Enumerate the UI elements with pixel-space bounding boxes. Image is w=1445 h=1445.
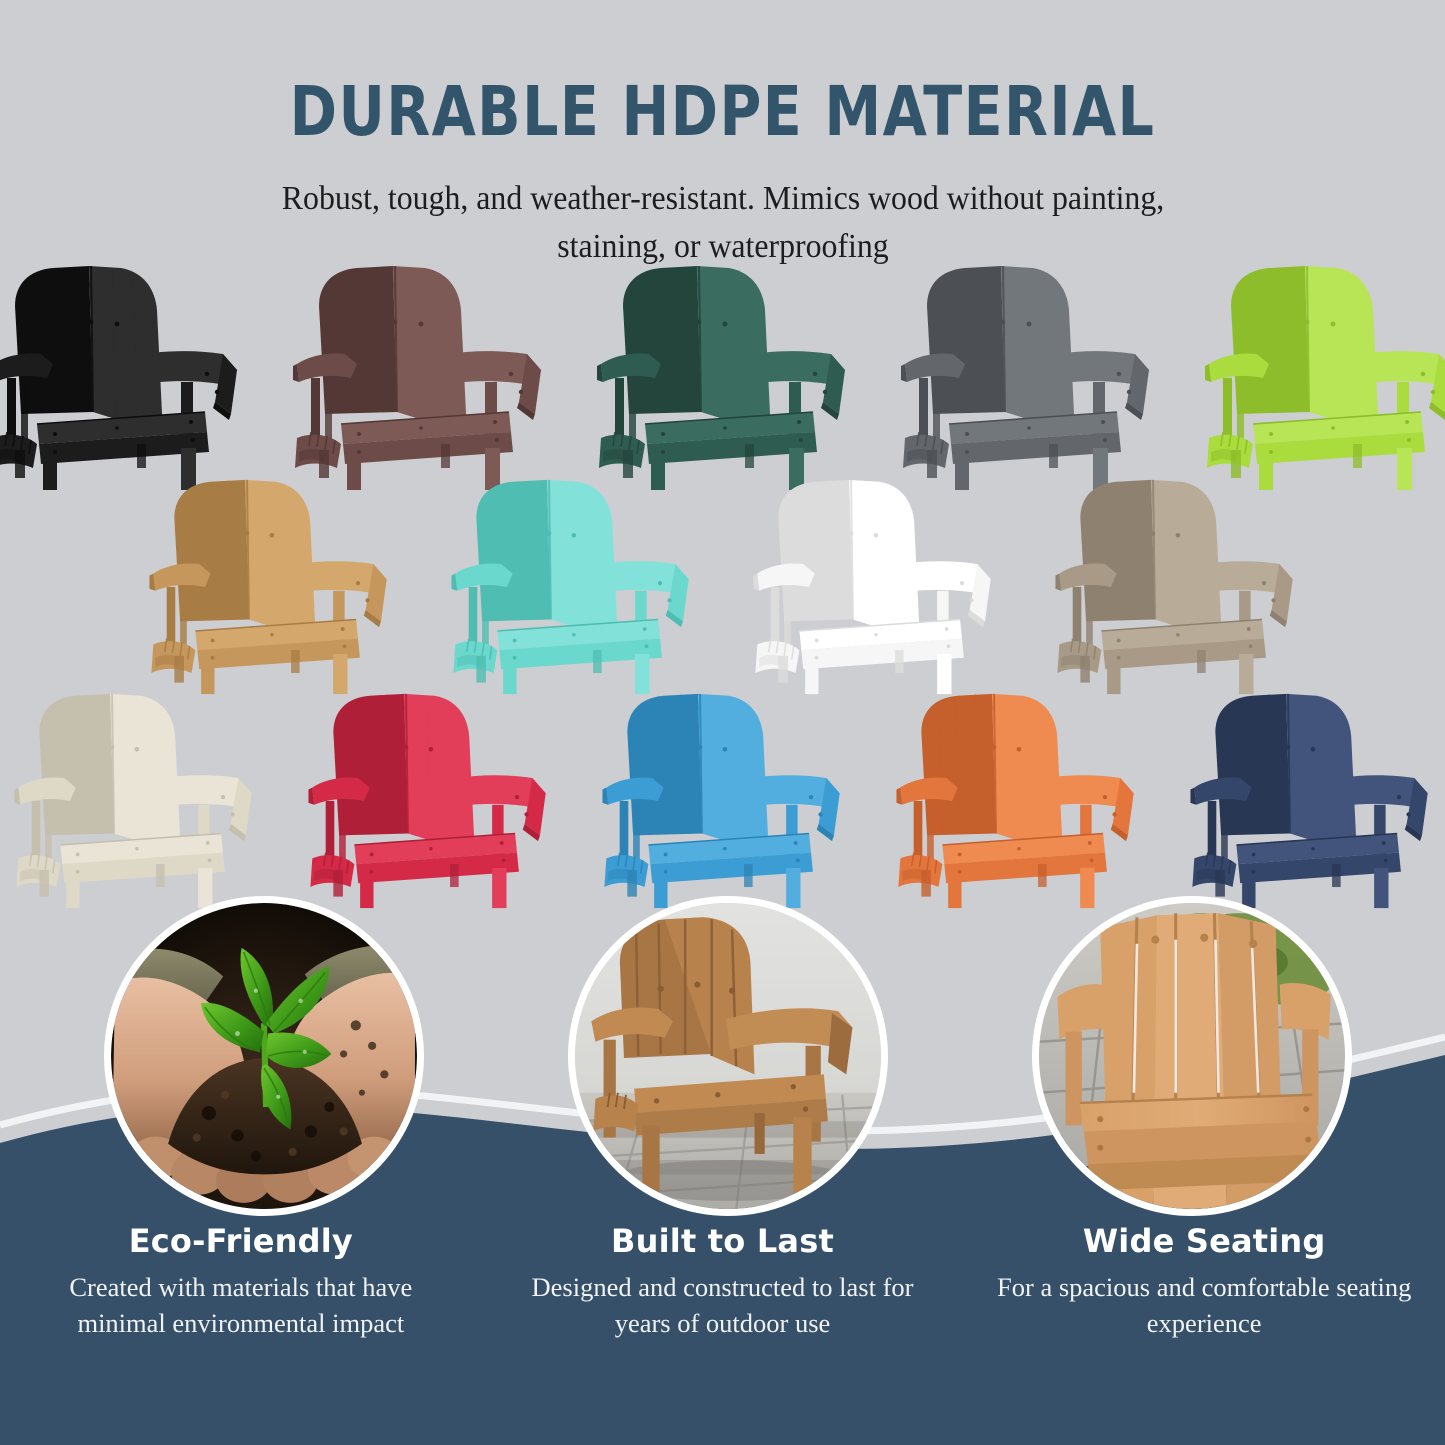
chair-row-2 — [0, 476, 1445, 696]
chair-swatch-navy[interactable] — [1186, 690, 1436, 910]
chair-swatch-gray[interactable] — [897, 262, 1157, 492]
adirondack-chair-light-blue — [598, 690, 848, 910]
adirondack-chair-black — [0, 262, 245, 492]
chair-swatch-teak[interactable] — [145, 476, 395, 696]
feature-eco-friendly: Eco-Friendly Created with materials that… — [0, 1222, 482, 1341]
feature-images — [0, 896, 1445, 1206]
feature-body: Created with materials that have minimal… — [26, 1270, 456, 1341]
adirondack-chair-teak — [145, 476, 395, 696]
adirondack-chair-aqua — [447, 476, 697, 696]
chair-swatch-white[interactable] — [749, 476, 999, 696]
chair-color-grid — [0, 262, 1445, 922]
adirondack-chair-orange — [892, 690, 1142, 910]
chair-swatch-weathered-wood[interactable] — [1051, 476, 1301, 696]
feature-image-wide-seating — [1032, 896, 1352, 1216]
adirondack-chair-white — [749, 476, 999, 696]
chair-swatch-brown[interactable] — [289, 262, 549, 492]
feature-title: Built to Last — [500, 1222, 946, 1260]
feature-built-to-last: Built to Last Designed and constructed t… — [482, 1222, 964, 1341]
infographic-canvas: DURABLE HDPE MATERIAL Robust, tough, and… — [0, 0, 1445, 1445]
adirondack-chair-gray — [897, 262, 1157, 492]
adirondack-chair-dark-green — [593, 262, 853, 492]
feature-body: For a spacious and comfortable seating e… — [989, 1270, 1419, 1341]
adirondack-chair-weathered-wood — [1051, 476, 1301, 696]
feature-body: Designed and constructed to last for yea… — [508, 1270, 938, 1341]
header: DURABLE HDPE MATERIAL Robust, tough, and… — [0, 0, 1445, 270]
chair-swatch-lime-green[interactable] — [1201, 262, 1445, 492]
adirondack-chair-navy — [1186, 690, 1436, 910]
chair-swatch-ivory[interactable] — [10, 690, 260, 910]
brown-adirondack-chair-on-patio-photo — [575, 903, 881, 1209]
page-title: DURABLE HDPE MATERIAL — [58, 0, 1387, 147]
adirondack-chair-brown — [289, 262, 549, 492]
feature-title: Eco-Friendly — [18, 1222, 464, 1260]
feature-wide-seating: Wide Seating For a spacious and comforta… — [963, 1222, 1445, 1341]
feature-image-built-to-last — [568, 896, 888, 1216]
page-subtitle: Robust, tough, and weather-resistant. Mi… — [243, 147, 1203, 270]
adirondack-chair-red — [304, 690, 554, 910]
feature-title: Wide Seating — [981, 1222, 1427, 1260]
chair-swatch-black[interactable] — [0, 262, 245, 492]
chair-swatch-dark-green[interactable] — [593, 262, 853, 492]
chair-swatch-light-blue[interactable] — [598, 690, 848, 910]
chair-row-1 — [0, 262, 1445, 492]
chair-swatch-aqua[interactable] — [447, 476, 697, 696]
adirondack-chair-lime-green — [1201, 262, 1445, 492]
feature-text-row: Eco-Friendly Created with materials that… — [0, 1222, 1445, 1341]
hands-holding-seedling-in-soil-photo — [111, 903, 417, 1209]
chair-row-3 — [0, 690, 1445, 910]
chair-swatch-orange[interactable] — [892, 690, 1142, 910]
closeup-tan-chair-wide-seat-photo — [1039, 903, 1345, 1209]
chair-swatch-red[interactable] — [304, 690, 554, 910]
feature-image-eco-friendly — [104, 896, 424, 1216]
adirondack-chair-ivory — [10, 690, 260, 910]
